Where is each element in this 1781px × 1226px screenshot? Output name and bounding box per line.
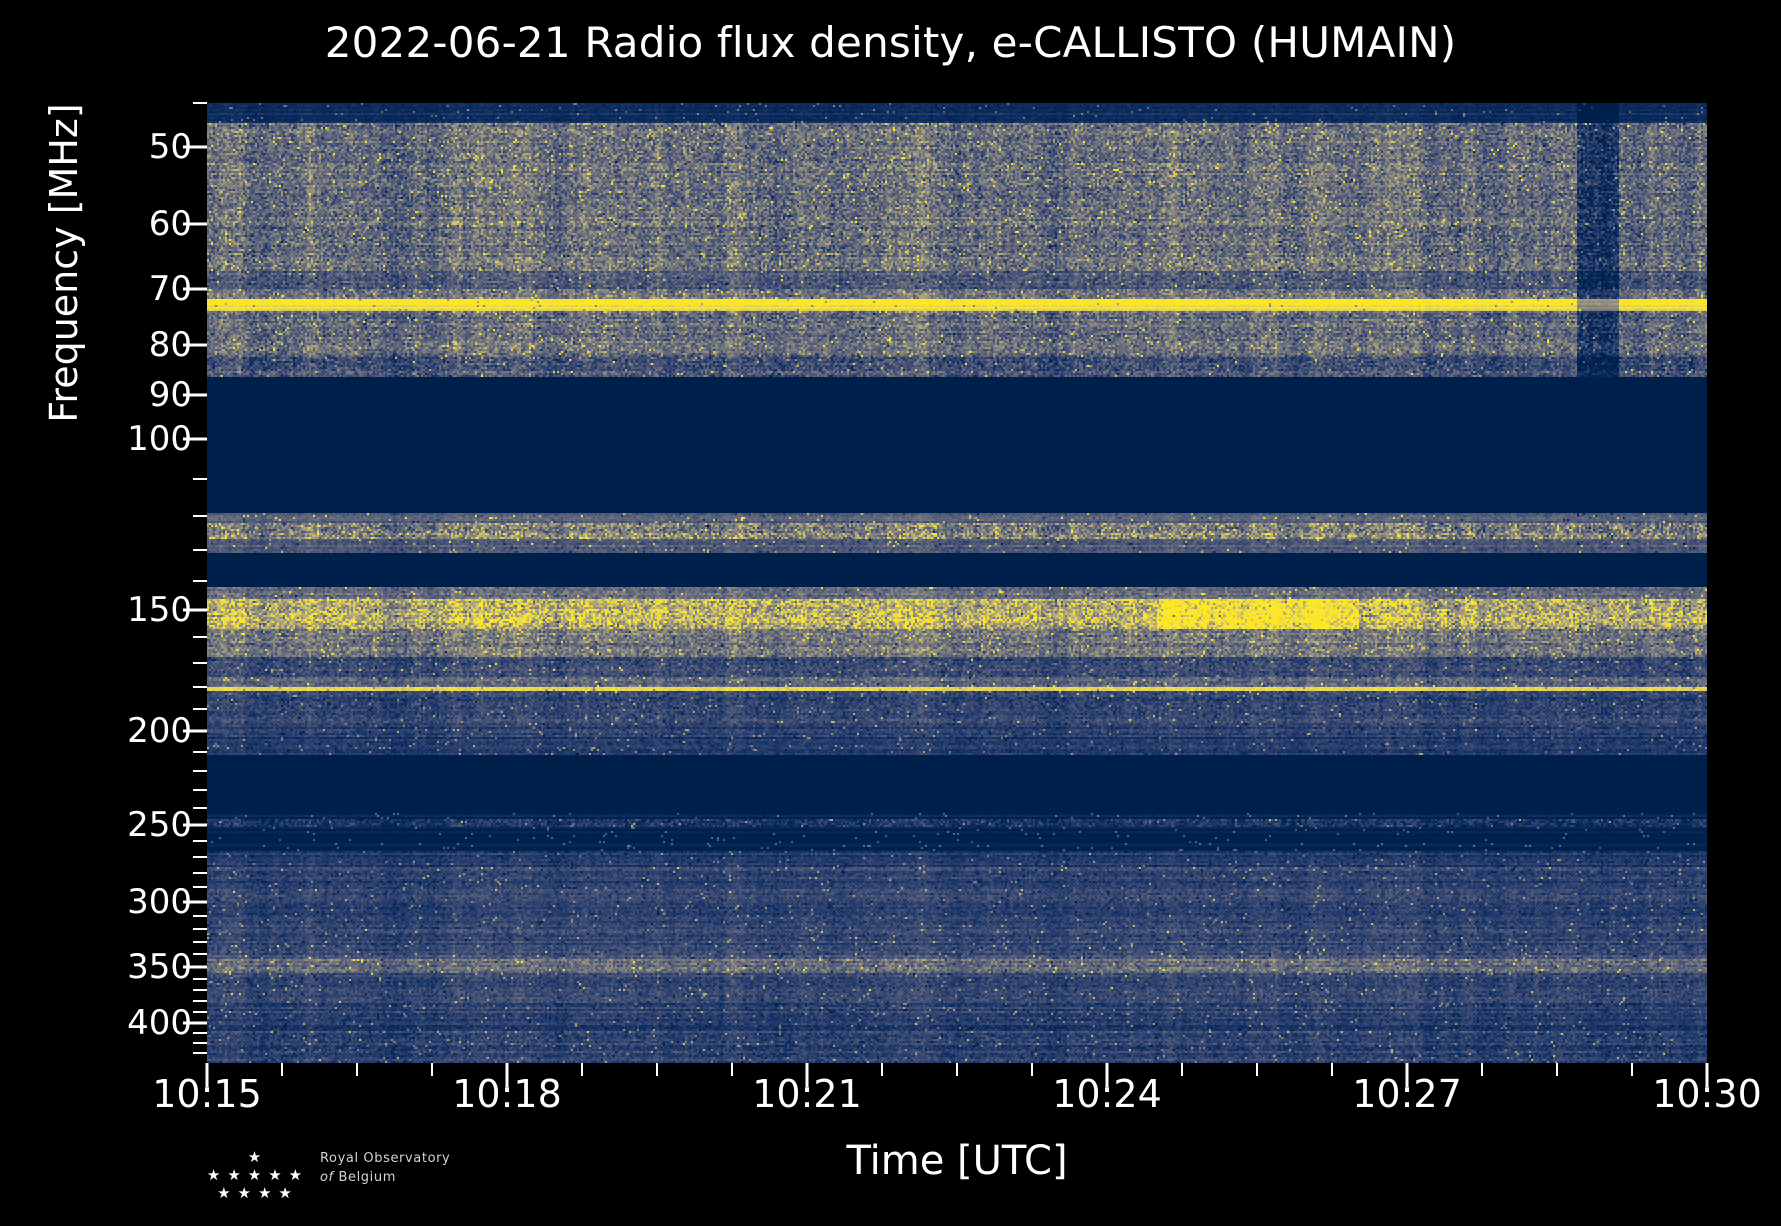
x-tick-label-10-18: 10:18 (452, 1072, 562, 1116)
logo-of: of (320, 1170, 334, 1185)
x-minor-tick (1256, 1063, 1258, 1076)
x-minor-tick (881, 1063, 883, 1076)
y-minor-tick (193, 580, 207, 582)
y-tick-label-100: 100 (127, 422, 192, 456)
y-tick-label-90: 90 (149, 378, 192, 412)
x-minor-tick (1181, 1063, 1183, 1076)
y-minor-tick (193, 989, 207, 991)
y-minor-tick (193, 662, 207, 664)
y-tick-label-400: 400 (127, 1006, 192, 1040)
spectrogram-plot-area[interactable] (207, 103, 1707, 1063)
y-minor-tick (193, 840, 207, 842)
y-minor-tick (193, 807, 207, 809)
y-tick-label-70: 70 (149, 272, 192, 306)
spectrogram-canvas (207, 103, 1707, 1063)
x-minor-tick (656, 1063, 658, 1076)
chart-title: 2022-06-21 Radio flux density, e-CALLIST… (0, 18, 1781, 67)
y-minor-tick (193, 978, 207, 980)
x-minor-tick (956, 1063, 958, 1076)
x-minor-tick (356, 1063, 358, 1076)
figure-root: 2022-06-21 Radio flux density, e-CALLIST… (0, 0, 1781, 1226)
x-tick-label-10-30: 10:30 (1652, 1072, 1762, 1116)
y-minor-tick (193, 941, 207, 943)
y-minor-tick (193, 686, 207, 688)
star-row-top: ★ (198, 1150, 318, 1165)
y-axis-label: Frequency [MHz] (42, 0, 86, 583)
x-minor-tick (1031, 1063, 1033, 1076)
y-tick-label-250: 250 (127, 808, 192, 842)
y-minor-tick (193, 886, 207, 888)
y-minor-tick (193, 1011, 207, 1013)
y-minor-tick (193, 915, 207, 917)
x-minor-tick (581, 1063, 583, 1076)
y-minor-tick (193, 478, 207, 480)
royal-observatory-logo: ★ ★★★★★ ★★★★ Royal Observatory of Belgiu… (198, 1146, 468, 1208)
y-minor-tick (193, 1052, 207, 1054)
x-minor-tick (731, 1063, 733, 1076)
y-minor-tick (193, 549, 207, 551)
logo-line-2: of Belgium (320, 1170, 490, 1185)
x-minor-tick (1481, 1063, 1483, 1076)
x-minor-tick (1556, 1063, 1558, 1076)
logo-text: Royal Observatory of Belgium (320, 1151, 490, 1185)
y-tick-label-60: 60 (149, 207, 192, 241)
y-minor-tick (193, 515, 207, 517)
y-minor-tick (193, 872, 207, 874)
y-minor-tick (193, 1042, 207, 1044)
y-tick-label-350: 350 (127, 950, 192, 984)
y-minor-tick (193, 102, 207, 104)
y-tick-label-200: 200 (127, 714, 192, 748)
x-tick-label-10-24: 10:24 (1052, 1072, 1162, 1116)
star-row-bottom: ★★★★ (198, 1186, 318, 1201)
y-minor-tick (193, 856, 207, 858)
y-tick-label-150: 150 (127, 593, 192, 627)
y-minor-tick (193, 1032, 207, 1034)
y-minor-tick (193, 953, 207, 955)
x-minor-tick (1331, 1063, 1333, 1076)
eu-stars-icon: ★ ★★★★★ ★★★★ (198, 1146, 318, 1208)
x-tick-label-10-27: 10:27 (1352, 1072, 1462, 1116)
x-minor-tick (281, 1063, 283, 1076)
y-minor-tick (193, 708, 207, 710)
y-tick-label-50: 50 (149, 130, 192, 164)
y-minor-tick (193, 1000, 207, 1002)
y-tick-label-300: 300 (127, 885, 192, 919)
x-tick-label-10-21: 10:21 (752, 1072, 862, 1116)
x-minor-tick (431, 1063, 433, 1076)
x-minor-tick (1631, 1063, 1633, 1076)
y-minor-tick (193, 928, 207, 930)
y-minor-tick (193, 770, 207, 772)
logo-belgium: Belgium (338, 1170, 396, 1185)
star-row-middle: ★★★★★ (198, 1168, 318, 1183)
y-minor-tick (193, 751, 207, 753)
y-minor-tick (193, 789, 207, 791)
logo-line-1: Royal Observatory (320, 1151, 490, 1166)
y-tick-label-80: 80 (149, 328, 192, 362)
y-minor-tick (193, 636, 207, 638)
x-tick-label-10-15: 10:15 (152, 1072, 262, 1116)
